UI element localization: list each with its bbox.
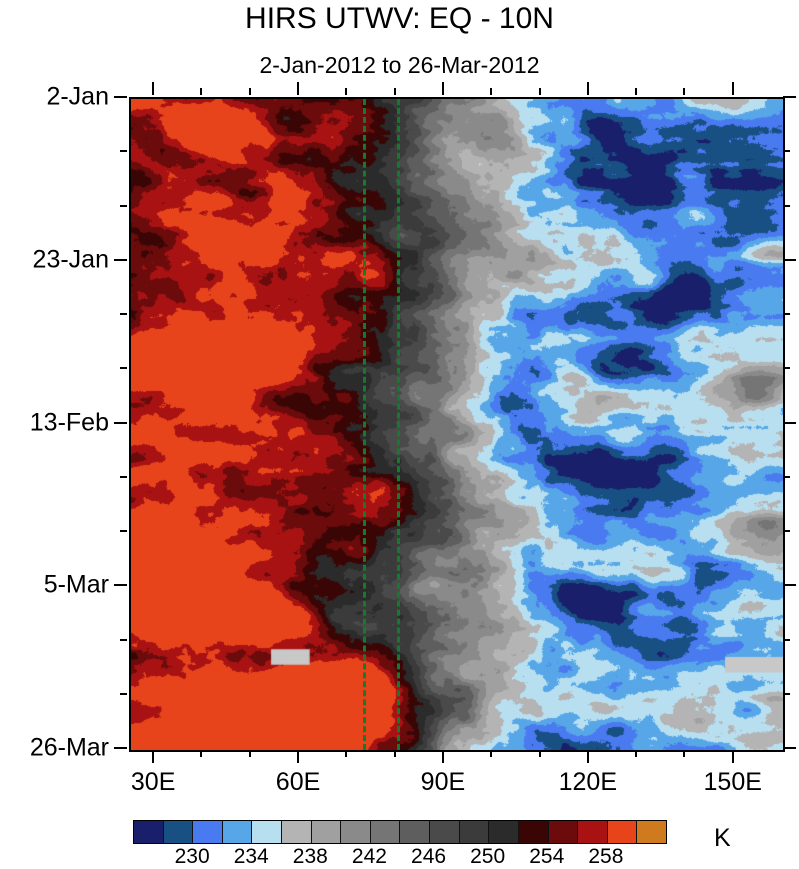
xaxis-label-60E: 60E xyxy=(276,768,320,797)
ytick-left-63 xyxy=(114,584,127,586)
colorbar-cell-7[interactable] xyxy=(341,821,371,843)
xaxis-label-150E: 150E xyxy=(704,768,762,797)
colorbar-cell-0[interactable] xyxy=(134,821,164,843)
yaxis-label-5-Mar: 5-Mar xyxy=(44,571,109,600)
xtick-bottom-130 xyxy=(635,750,637,757)
colorbar-cell-8[interactable] xyxy=(371,821,401,843)
colorbar-cell-13[interactable] xyxy=(519,821,549,843)
colorbar-cell-15[interactable] xyxy=(578,821,608,843)
xtick-top-120 xyxy=(587,82,589,95)
colorbar-cell-9[interactable] xyxy=(400,821,430,843)
xtick-bottom-60 xyxy=(297,750,299,763)
xtick-top-80 xyxy=(394,88,396,95)
xtick-top-90 xyxy=(442,82,444,95)
ytick-left-70 xyxy=(120,639,127,641)
hovmoller-heatmap xyxy=(131,99,783,750)
xtick-bottom-140 xyxy=(683,750,685,757)
region-marker-east xyxy=(397,99,400,750)
ytick-left-0 xyxy=(114,96,127,98)
ytick-right-0 xyxy=(783,96,796,98)
yaxis-label-13-Feb: 13-Feb xyxy=(30,408,109,437)
colorbar-tick-258: 258 xyxy=(588,845,623,869)
ytick-left-42 xyxy=(114,422,127,424)
yaxis-label-26-Mar: 26-Mar xyxy=(30,734,109,763)
colorbar-tick-254: 254 xyxy=(529,845,564,869)
colorbar-cell-17[interactable] xyxy=(637,821,666,843)
ytick-left-84 xyxy=(114,747,127,749)
region-marker-west xyxy=(363,99,366,750)
xtick-top-100 xyxy=(490,88,492,95)
xtick-bottom-100 xyxy=(490,750,492,757)
colorbar-cell-11[interactable] xyxy=(460,821,490,843)
ytick-left-21 xyxy=(114,259,127,261)
colorbar-cell-14[interactable] xyxy=(549,821,579,843)
ytick-right-7 xyxy=(783,150,790,152)
colorbar-cell-2[interactable] xyxy=(193,821,223,843)
yaxis-label-23-Jan: 23-Jan xyxy=(33,245,109,274)
chart-root: HIRS UTWV: EQ - 10N 2-Jan-2012 to 26-Mar… xyxy=(0,0,799,863)
ytick-right-49 xyxy=(783,476,790,478)
ytick-right-70 xyxy=(783,639,790,641)
ytick-left-77 xyxy=(120,693,127,695)
xtick-bottom-120 xyxy=(587,750,589,763)
ytick-left-28 xyxy=(120,313,127,315)
xtick-bottom-80 xyxy=(394,750,396,757)
yaxis-label-2-Jan: 2-Jan xyxy=(46,83,109,112)
colorbar-tick-246: 246 xyxy=(411,845,446,869)
xtick-top-110 xyxy=(539,88,541,95)
ytick-right-77 xyxy=(783,693,790,695)
colorbar-unit-label: K xyxy=(714,824,731,853)
xtick-top-60 xyxy=(297,82,299,95)
xaxis-label-30E: 30E xyxy=(131,768,175,797)
xtick-top-150 xyxy=(732,82,734,95)
ytick-right-28 xyxy=(783,313,790,315)
xtick-top-40 xyxy=(200,88,202,95)
ytick-left-7 xyxy=(120,150,127,152)
colorbar-cell-4[interactable] xyxy=(252,821,282,843)
colorbar-cell-16[interactable] xyxy=(608,821,638,843)
colorbar-cell-12[interactable] xyxy=(489,821,519,843)
xaxis-label-120E: 120E xyxy=(559,768,617,797)
colorbar-cell-10[interactable] xyxy=(430,821,460,843)
ytick-left-49 xyxy=(120,476,127,478)
colorbar-cell-1[interactable] xyxy=(164,821,194,843)
ytick-left-35 xyxy=(120,367,127,369)
colorbar-cell-6[interactable] xyxy=(312,821,342,843)
ytick-right-21 xyxy=(783,259,796,261)
chart-subtitle: 2-Jan-2012 to 26-Mar-2012 xyxy=(0,52,799,79)
xtick-bottom-30 xyxy=(152,750,154,763)
colorbar-tick-238: 238 xyxy=(293,845,328,869)
colorbar-tick-242: 242 xyxy=(352,845,387,869)
xtick-bottom-70 xyxy=(345,750,347,757)
colorbar-tick-234: 234 xyxy=(234,845,269,869)
xtick-bottom-150 xyxy=(732,750,734,763)
colorbar-cell-3[interactable] xyxy=(223,821,253,843)
ytick-right-84 xyxy=(783,747,796,749)
xtick-top-140 xyxy=(683,88,685,95)
xtick-top-30 xyxy=(152,82,154,95)
xtick-bottom-50 xyxy=(249,750,251,757)
colorbar[interactable] xyxy=(133,820,667,844)
xtick-bottom-110 xyxy=(539,750,541,757)
xtick-bottom-90 xyxy=(442,750,444,763)
xtick-bottom-40 xyxy=(200,750,202,757)
ytick-right-56 xyxy=(783,530,790,532)
ytick-right-14 xyxy=(783,205,790,207)
colorbar-tick-230: 230 xyxy=(175,845,210,869)
xtick-top-130 xyxy=(635,88,637,95)
xtick-top-70 xyxy=(345,88,347,95)
ytick-right-42 xyxy=(783,422,796,424)
ytick-right-35 xyxy=(783,367,790,369)
xaxis-label-90E: 90E xyxy=(421,768,465,797)
ytick-left-14 xyxy=(120,205,127,207)
page-title: HIRS UTWV: EQ - 10N xyxy=(0,2,799,36)
colorbar-tick-250: 250 xyxy=(470,845,505,869)
ytick-right-63 xyxy=(783,584,796,586)
ytick-left-56 xyxy=(120,530,127,532)
plot-area xyxy=(129,97,785,752)
colorbar-cell-5[interactable] xyxy=(282,821,312,843)
xtick-top-50 xyxy=(249,88,251,95)
